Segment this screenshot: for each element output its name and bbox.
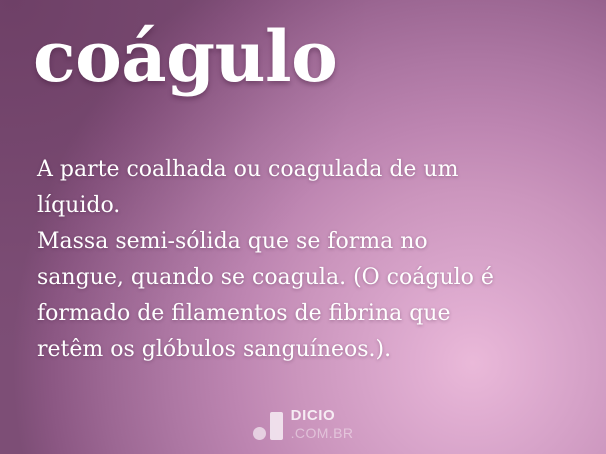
definition-line: sangue, quando se coagula. (O coágulo é xyxy=(37,260,515,296)
logo-domain: .COM.BR xyxy=(291,426,354,440)
definition-text: A parte coalhada ou coagulada de um líqu… xyxy=(37,152,515,368)
headword-title: coágulo xyxy=(33,22,337,92)
logo-inner: DICIO .COM.BR xyxy=(253,408,354,441)
logo-name: DICIO xyxy=(291,408,354,423)
definition-line: A parte coalhada ou coagulada de um xyxy=(37,152,515,188)
logo-wordmark: DICIO .COM.BR xyxy=(291,408,354,441)
card-content: coágulo A parte coalhada ou coagulada de… xyxy=(0,0,606,454)
dictionary-definition-card: coágulo A parte coalhada ou coagulada de… xyxy=(0,0,606,454)
rounded-bar-icon xyxy=(270,412,283,440)
circle-dot-icon xyxy=(253,427,266,440)
definition-line: Massa semi-sólida que se forma no xyxy=(37,224,515,260)
definition-line: retêm os glóbulos sanguíneos.). xyxy=(37,332,515,368)
definition-line: líquido. xyxy=(37,188,515,224)
definition-line: formado de filamentos de fibrina que xyxy=(37,296,515,332)
dicio-logo: DICIO .COM.BR xyxy=(0,408,606,441)
logo-mark xyxy=(253,412,283,441)
